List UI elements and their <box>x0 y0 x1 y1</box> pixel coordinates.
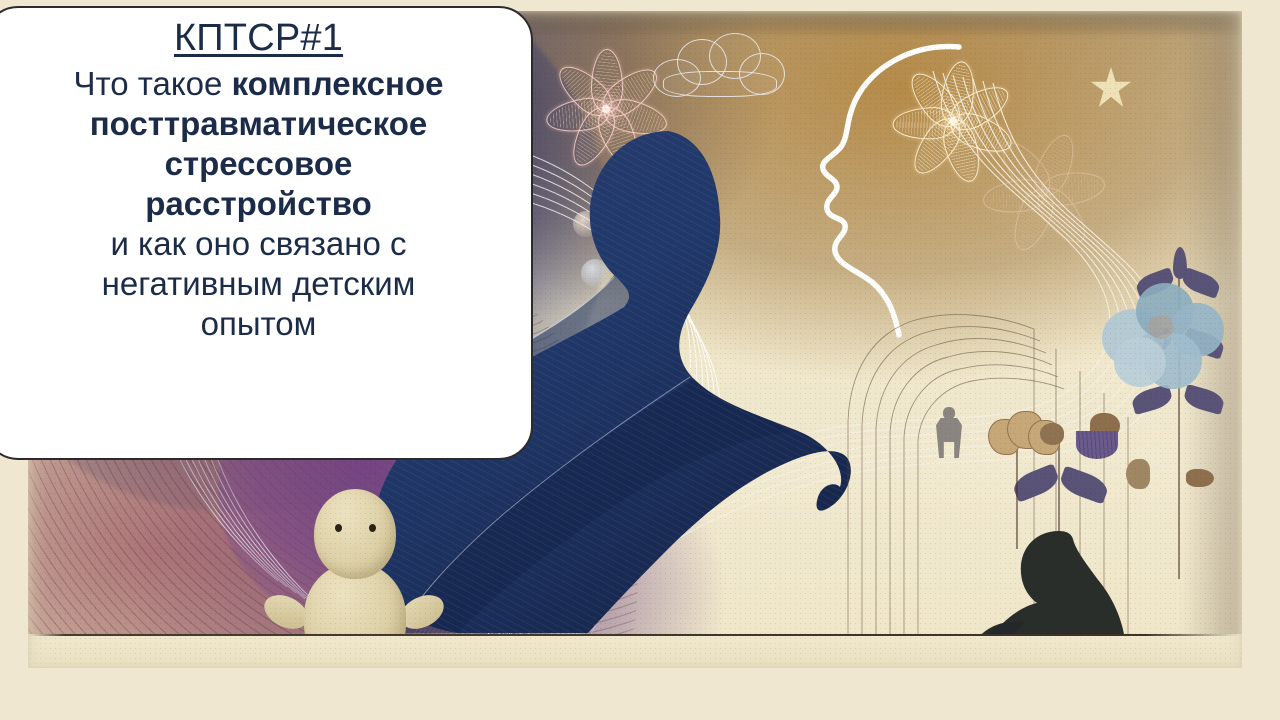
card-title: КПТСР#1 <box>8 18 509 58</box>
card-line-5: и как оно связано с <box>12 224 505 264</box>
card-line-3: стрессовое <box>12 144 505 184</box>
slide-canvas: КПТСР#1 Что такое комплексноепосттравмат… <box>0 0 1280 720</box>
title-card: КПТСР#1 Что такое комплексноепосттравмат… <box>0 6 533 460</box>
card-line-2: посттравматическое <box>12 104 505 144</box>
card-line-6: негативным детским <box>12 264 505 304</box>
card-body: Что такое комплексноепосттравматическоес… <box>8 64 509 343</box>
card-line-7: опытом <box>12 304 505 344</box>
card-line-4: расстройство <box>12 184 505 224</box>
card-line-1: Что такое комплексное <box>12 64 505 104</box>
